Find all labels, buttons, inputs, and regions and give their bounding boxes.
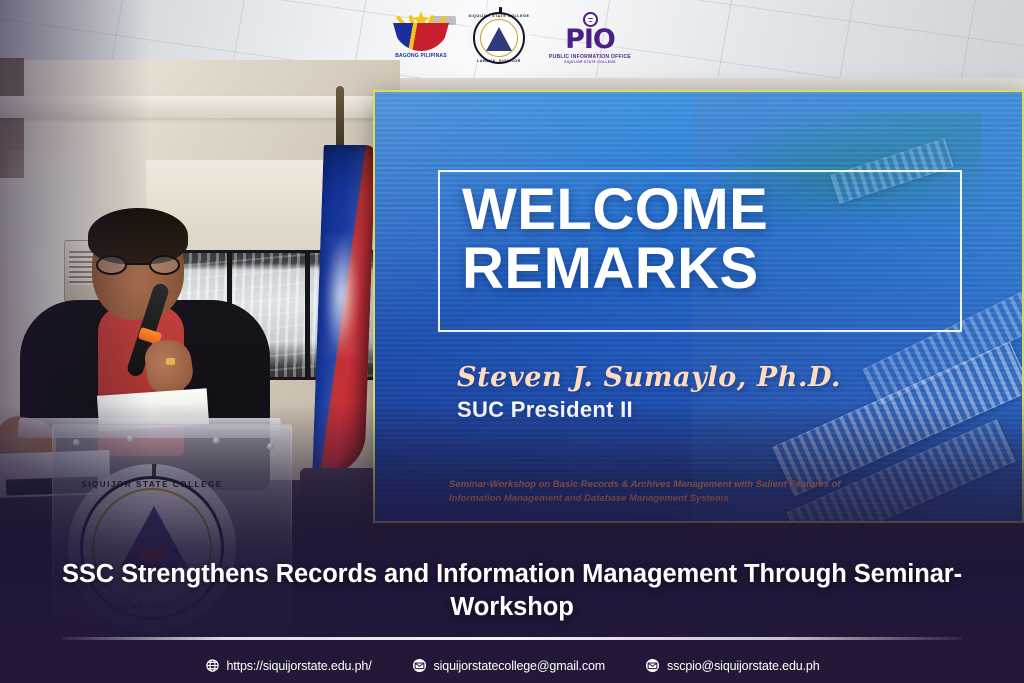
footer-contact-row: https://siquijorstate.edu.ph/ siquijorst…	[0, 648, 1024, 683]
seal-bottom-text: LARENA, SIQUIJOR	[468, 59, 530, 63]
bottom-gradient-overlay	[0, 403, 1024, 683]
globe-icon	[205, 658, 220, 673]
flag-swoosh-icon	[393, 23, 449, 51]
seal-top-text: SIQUIJOR STATE COLLEGE	[468, 14, 530, 18]
eyeglass-lens-right	[149, 255, 180, 275]
window-mullion	[305, 253, 310, 377]
contact-email-primary[interactable]: siquijorstatecollege@gmail.com	[412, 658, 605, 673]
public-information-office-logo: PIO PUBLIC INFORMATION OFFICE SIQUIJOR S…	[544, 10, 636, 66]
slide-title: WELCOME REMARKS	[462, 180, 768, 298]
headline-caption: SSC Strengthens Records and Information …	[0, 558, 1024, 623]
pio-badge-icon	[583, 12, 598, 27]
press-release-poster: WELCOME REMARKS Steven J. Sumaylo, Ph.D.…	[0, 0, 1024, 683]
envelope-icon	[645, 658, 660, 673]
contact-email-pio[interactable]: sscpio@siquijorstate.edu.ph	[645, 658, 819, 673]
finger-ring	[166, 358, 175, 365]
pio-letters: PIO	[565, 28, 615, 52]
footer-divider	[62, 637, 962, 640]
header-logo-row: BAGONG PILIPINAS SIQUIJOR STATE COLLEGE …	[0, 6, 1024, 70]
siquijor-state-college-seal: SIQUIJOR STATE COLLEGE LARENA, SIQUIJOR	[468, 7, 530, 69]
contact-website[interactable]: https://siquijorstate.edu.ph/	[205, 658, 372, 673]
envelope-icon	[412, 658, 427, 673]
contact-email-primary-text: siquijorstatecollege@gmail.com	[434, 659, 605, 673]
bagong-pilipinas-logo: BAGONG PILIPINAS	[388, 9, 454, 67]
slide-title-line2: REMARKS	[462, 239, 768, 298]
contact-email-pio-text: sscpio@siquijorstate.edu.ph	[667, 659, 819, 673]
seal-triangle-icon	[486, 27, 512, 51]
slide-title-box: WELCOME REMARKS	[438, 170, 962, 332]
slide-title-line1: WELCOME	[462, 180, 768, 239]
bagong-pilipinas-mark	[393, 9, 449, 51]
slide-speaker-name: Steven J. Sumaylo, Ph.D.	[457, 362, 841, 393]
contact-website-text: https://siquijorstate.edu.ph/	[227, 659, 372, 673]
bagong-pilipinas-label: BAGONG PILIPINAS	[395, 53, 447, 59]
pio-subtitle-secondary: SIQUIJOR STATE COLLEGE	[564, 60, 616, 64]
